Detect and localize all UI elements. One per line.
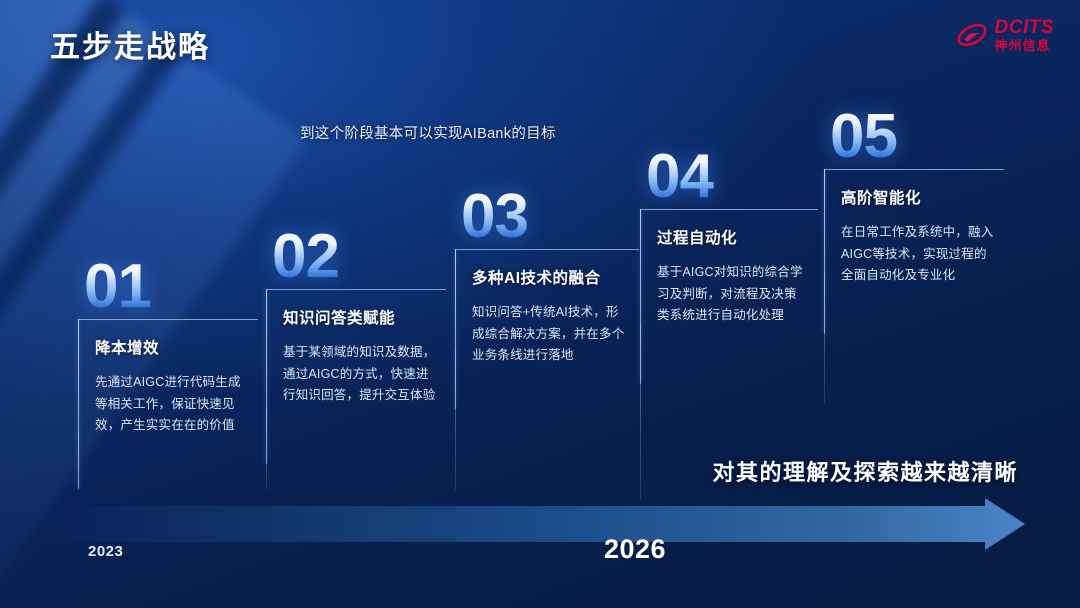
step-title: 知识问答类赋能: [283, 306, 436, 328]
step-01[interactable]: 01 降本增效 先通过AIGC进行代码生成等相关工作，保证快速见效，产生实实在在…: [78, 258, 258, 489]
step-05[interactable]: 05 高阶智能化 在日常工作及系统中，融入AIGC等技术，实现过程的全面自动化及…: [824, 108, 1004, 334]
logo-cn-text: 神州信息: [995, 39, 1055, 52]
step-title: 高阶智能化: [841, 186, 994, 208]
step-number: 05: [830, 108, 1004, 165]
step-number: 03: [461, 188, 639, 245]
step-card: 过程自动化 基于AIGC对知识的综合学习及判断，对流程及决策类系统进行自动化处理: [640, 209, 818, 384]
step-card: 降本增效 先通过AIGC进行代码生成等相关工作，保证快速见效，产生实实在在的价值: [78, 319, 258, 489]
step-description: 在日常工作及系统中，融入AIGC等技术，实现过程的全面自动化及专业化: [841, 222, 994, 287]
step-description: 基于AIGC对知识的综合学习及判断，对流程及决策类系统进行自动化处理: [657, 262, 808, 327]
step-description: 基于某领域的知识及数据，通过AIGC的方式，快速进行知识回答，提升交互体验: [283, 342, 436, 407]
step-description: 先通过AIGC进行代码生成等相关工作，保证快速见效，产生实实在在的价值: [95, 372, 248, 437]
step-02[interactable]: 02 知识问答类赋能 基于某领域的知识及数据，通过AIGC的方式，快速进行知识回…: [266, 228, 446, 464]
step-title: 多种AI技术的融合: [472, 266, 629, 288]
timeline-arrow-shape: [0, 498, 1080, 550]
step-card: 多种AI技术的融合 知识问答+传统AI技术，形成综合解决方案，并在多个业务条线进…: [455, 249, 639, 409]
step-number: 01: [84, 258, 258, 315]
timeline-arrow: [0, 498, 1080, 550]
callout-note: 到这个阶段基本可以实现AIBank的目标: [300, 122, 556, 143]
slide-canvas: 五步走战略 DCITS 神州信息 到这个阶段基本可以实现AIBank的目标 01…: [0, 0, 1080, 608]
step-card: 高阶智能化 在日常工作及系统中，融入AIGC等技术，实现过程的全面自动化及专业化: [824, 169, 1004, 334]
page-title: 五步走战略: [50, 22, 210, 66]
step-04[interactable]: 04 过程自动化 基于AIGC对知识的综合学习及判断，对流程及决策类系统进行自动…: [640, 148, 818, 384]
dcits-swirl-icon: [955, 18, 989, 52]
timeline-start-year: 2023: [88, 543, 123, 560]
step-card: 知识问答类赋能 基于某领域的知识及数据，通过AIGC的方式，快速进行知识回答，提…: [266, 289, 446, 464]
step-description: 知识问答+传统AI技术，形成综合解决方案，并在多个业务条线进行落地: [472, 302, 629, 367]
step-title: 过程自动化: [657, 226, 808, 248]
step-03[interactable]: 03 多种AI技术的融合 知识问答+传统AI技术，形成综合解决方案，并在多个业务…: [455, 188, 639, 409]
timeline-end-year: 2026: [604, 534, 666, 565]
arrow-label: 对其的理解及探索越来越清晰: [712, 455, 1018, 487]
brand-logo: DCITS 神州信息: [955, 18, 1055, 52]
logo-en-text: DCITS: [995, 18, 1055, 37]
step-number: 04: [646, 148, 818, 205]
step-title: 降本增效: [95, 336, 248, 358]
step-number: 02: [272, 228, 446, 285]
